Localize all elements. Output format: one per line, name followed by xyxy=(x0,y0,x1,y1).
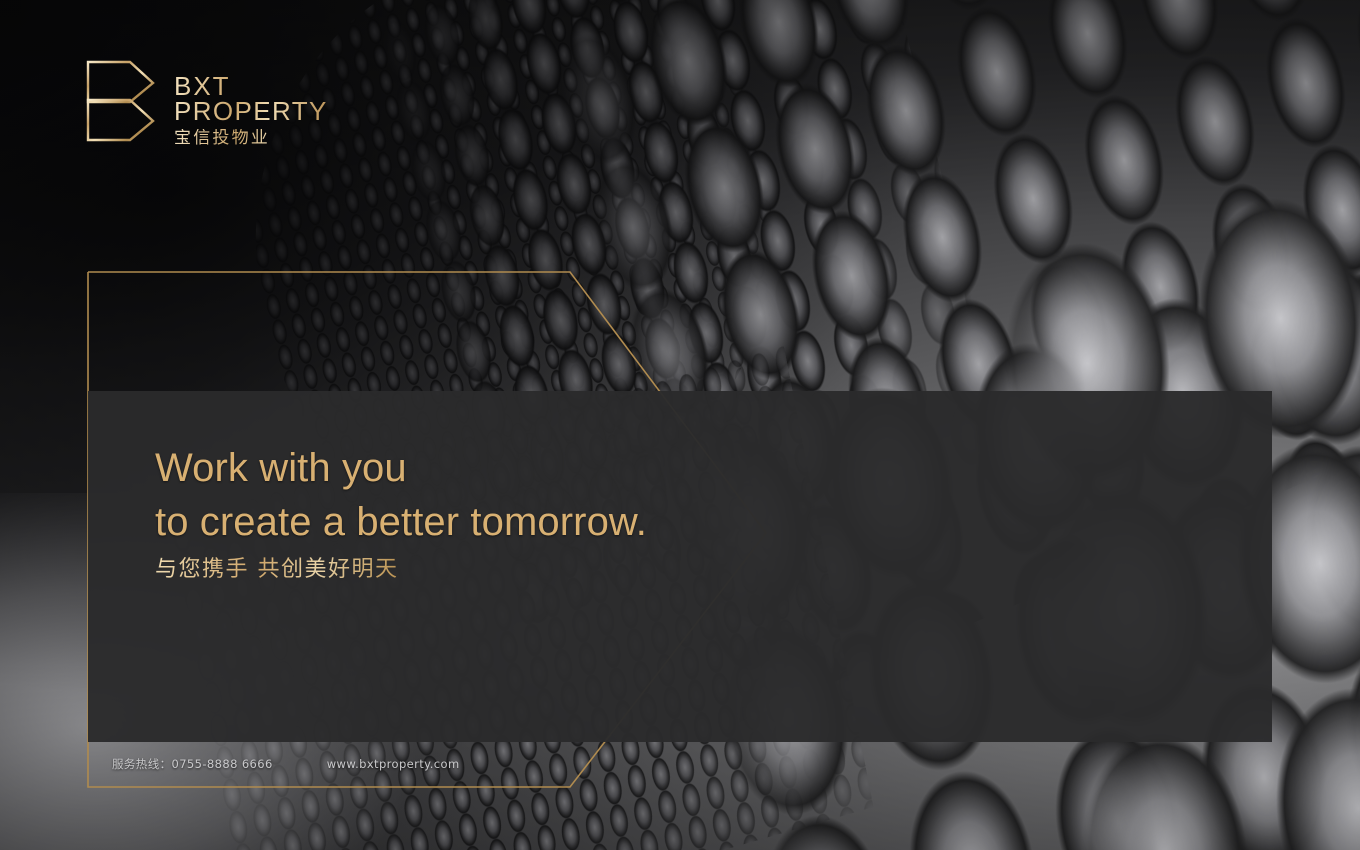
brand-logo[interactable]: BXT PROPERTY 宝信投物业 xyxy=(85,58,328,148)
slide-canvas: BXT PROPERTY 宝信投物业 Work with you to crea… xyxy=(0,0,1360,850)
brand-wordmark: BXT PROPERTY 宝信投物业 xyxy=(174,58,328,148)
footer-contact: 服务热线：0755-8888 6666 www.bxtproperty.com xyxy=(112,756,460,772)
brand-name-cn: 宝信投物业 xyxy=(174,129,328,148)
headline-line-1: Work with you xyxy=(155,448,647,488)
bxt-chevron-b-logo-icon xyxy=(85,58,155,144)
footer-hotline-label: 服务热线： xyxy=(112,757,172,771)
footer-hotline-number: 0755-8888 6666 xyxy=(172,757,273,771)
headline-line-2: to create a better tomorrow. xyxy=(155,502,647,542)
hero-headline: Work with you to create a better tomorro… xyxy=(155,448,647,542)
footer-hotline: 服务热线：0755-8888 6666 xyxy=(112,756,273,772)
hero-subhead: 与您携手 共创美好明天 xyxy=(155,557,399,583)
brand-name-line2: PROPERTY xyxy=(174,99,328,124)
footer-website[interactable]: www.bxtproperty.com xyxy=(327,757,460,771)
